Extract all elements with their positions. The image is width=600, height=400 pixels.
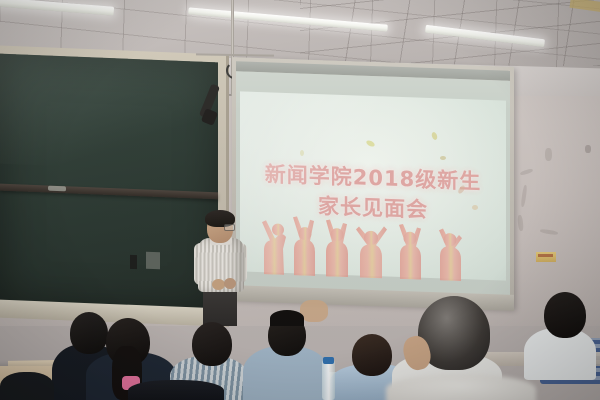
attendee-hair <box>270 310 304 326</box>
projection-sheen <box>240 91 506 280</box>
chalk-piece <box>48 186 66 192</box>
list-item <box>128 380 224 400</box>
attendee-head <box>70 312 108 354</box>
wall-mark <box>545 148 552 161</box>
chalkboard-glare <box>0 54 218 173</box>
list-item <box>0 372 54 400</box>
wall-mark <box>585 145 591 153</box>
wall-sign-text <box>538 254 553 257</box>
attendee-head <box>192 322 232 366</box>
bottle-cap <box>323 357 334 364</box>
attendee-head <box>544 292 586 338</box>
presenter-hand <box>212 279 225 290</box>
chalkboard-magnet <box>130 255 137 269</box>
water-bottle <box>322 360 335 400</box>
glasses-icon <box>224 224 235 231</box>
attendee-head <box>352 334 392 376</box>
chalkboard-card <box>146 252 160 270</box>
attendee-arm <box>300 300 328 322</box>
foreground-blur <box>386 374 536 400</box>
classroom-photo: 新闻学院2018级新生 家长见面会 <box>0 0 600 400</box>
presenter-hand <box>224 278 236 289</box>
